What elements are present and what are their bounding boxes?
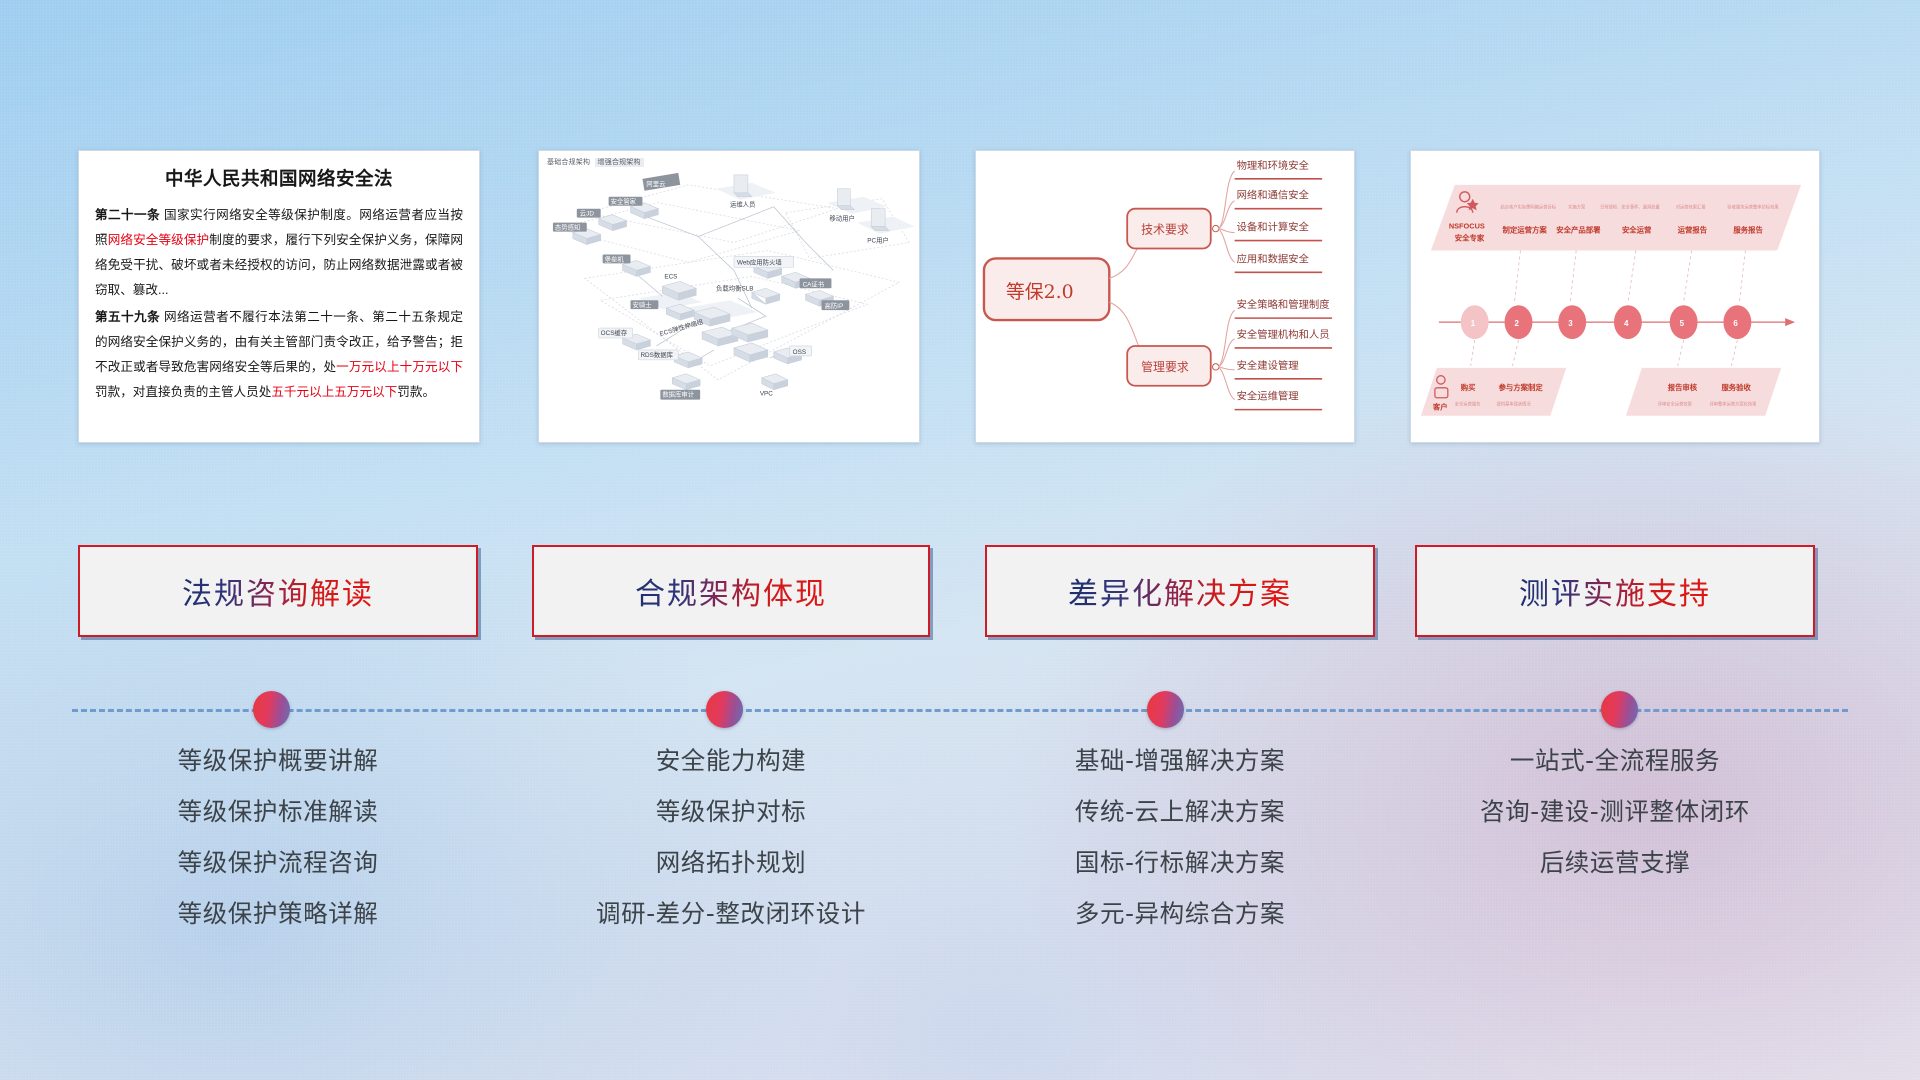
timeline-step-5: 5 <box>1680 319 1685 328</box>
nsfocus-canvas: NSFOCUS 安全专家 结合客户实际需明确运营目标 制定运营方案 实施方案 安… <box>1411 151 1819 443</box>
node-label-mobile-user: 移动用户 <box>829 214 854 223</box>
bottom-step-3-title: 报告审核 <box>1668 383 1698 392</box>
architecture-node-labels: 安全管家 云JD 态势感知 堡垒机 ECS 安骑士 OCS缓存 <box>553 197 889 400</box>
timeline-dot-3[interactable] <box>1147 691 1184 728</box>
node-label-ecs: ECS <box>664 273 677 280</box>
headline-box-3[interactable]: 差异化解决方案 <box>985 545 1375 637</box>
nsfocus-timeline: NSFOCUS 安全专家 结合客户实际需明确运营目标 制定运营方案 实施方案 安… <box>1411 151 1819 442</box>
top-step-3-sub: 日常巡检、安全事件、漏洞处置 <box>1600 204 1660 211</box>
top-step-1-sub: 结合客户实际需明确运营目标 <box>1501 204 1557 211</box>
mindmap-leaf-1-3: 设备和计算安全 <box>1237 221 1310 234</box>
law-article-21-highlight: 网络安全等级保护 <box>108 233 210 247</box>
node-label-anqishi: 安骑士 <box>633 300 653 309</box>
law-article-59-label: 第五十九条 <box>95 310 160 324</box>
headline-box-4[interactable]: 测评实施支持 <box>1415 545 1815 637</box>
node-label-vpc: VPC <box>760 391 773 398</box>
timeline-step-1: 1 <box>1471 319 1476 328</box>
bullet-columns: 等级保护概要讲解 等级保护标准解读 等级保护流程咨询 等级保护策略详解 安全能力… <box>0 735 1920 975</box>
list-item: 多元-异构综合方案 <box>985 888 1375 939</box>
timeline-dot-4[interactable] <box>1601 691 1638 728</box>
node-label-security-butler: 安全管家 <box>611 197 637 206</box>
top-step-5-title: 服务报告 <box>1733 226 1763 235</box>
bottom-step-2-sub: 提供基本现状情况 <box>1497 401 1532 408</box>
nsfocus-brand: NSFOCUS <box>1449 222 1485 231</box>
card-cybersecurity-law[interactable]: 中华人民共和国网络安全法 第二十一条 国家实行网络安全等级保护制度。网络运营者应… <box>78 150 480 443</box>
law-penalty-highlight-2: 五千元以上五万元以下 <box>271 385 397 399</box>
top-step-3-title: 安全运营 <box>1622 226 1652 235</box>
list-item: 等级保护对标 <box>532 786 930 837</box>
headline-label-1: 法规咨询解读 <box>182 569 374 613</box>
headline-label-4: 测评实施支持 <box>1519 569 1711 613</box>
mindmap-canvas: 等保2.0 技术要求 物理和环境安全 网络和通信安全 <box>976 151 1354 442</box>
bottom-step-1-title: 购买 <box>1461 383 1476 392</box>
list-item: 一站式-全流程服务 <box>1415 735 1815 786</box>
list-item: 传统-云上解决方案 <box>985 786 1375 837</box>
mindmap-leaf-2-4: 安全运维管理 <box>1237 390 1299 403</box>
node-label-anti-ddos-ip: 高防IP <box>824 301 843 310</box>
mindmap: 等保2.0 技术要求 物理和环境安全 网络和通信安全 <box>976 151 1354 442</box>
card-nsfocus-timeline[interactable]: NSFOCUS 安全专家 结合客户实际需明确运营目标 制定运营方案 实施方案 安… <box>1410 150 1820 443</box>
bottom-step-4-sub: 评审整体运营方案化效果 <box>1710 401 1758 408</box>
architecture-diagram: 基础合规架构 增强合规架构 <box>539 151 919 442</box>
timeline-step-4: 4 <box>1624 319 1629 328</box>
timeline-dot-2[interactable] <box>706 691 743 728</box>
bullet-column-3: 基础-增强解决方案 传统-云上解决方案 国标-行标解决方案 多元-异构综合方案 <box>985 735 1375 939</box>
top-step-4-sub: 对运营效果汇报 <box>1676 204 1707 211</box>
list-item: 调研-差分-整改闭环设计 <box>532 888 930 939</box>
timeline-step-2: 2 <box>1514 319 1519 328</box>
bottom-step-2-title: 参与方案制定 <box>1499 383 1544 392</box>
node-label-cloud-jd: 云JD <box>580 210 595 218</box>
thumbnail-card-row: 中华人民共和国网络安全法 第二十一条 国家实行网络安全等级保护制度。网络运营者应… <box>0 150 1920 450</box>
node-label-ca-cert: CA证书 <box>803 279 825 288</box>
list-item: 网络拓扑规划 <box>532 837 930 888</box>
node-label-waf: Web应用防火墙 <box>737 257 782 266</box>
node-label-oss: OSS <box>793 349 806 356</box>
headline-label-2: 合规架构体现 <box>635 569 827 613</box>
law-article-59-mid: 罚款，对直接负责的主管人员处 <box>95 385 271 399</box>
node-label-ops-staff: 运维人员 <box>730 200 755 209</box>
node-label-ocs-cache: OCS缓存 <box>601 328 628 337</box>
customer-label: 客户 <box>1432 403 1448 412</box>
node-label-situational-awareness: 态势感知 <box>555 223 580 232</box>
bottom-step-3-sub: 评审安全运营效果 <box>1658 401 1693 408</box>
list-item: 等级保护标准解读 <box>78 786 478 837</box>
timeline-dot-1[interactable] <box>253 691 290 728</box>
bullet-column-2: 安全能力构建 等级保护对标 网络拓扑规划 调研-差分-整改闭环设计 <box>532 735 930 939</box>
mindmap-leaf-1-2: 网络和通信安全 <box>1237 189 1310 202</box>
bottom-step-1-sub: 安全运营服务 <box>1455 401 1481 408</box>
top-step-4-title: 运营报告 <box>1678 226 1708 235</box>
mindmap-leaf-2-1: 安全策略和管理制度 <box>1237 298 1330 311</box>
card-cloud-architecture[interactable]: 基础合规架构 增强合规架构 <box>538 150 920 443</box>
node-label-rds-database: RDS数据库 <box>640 350 673 359</box>
card-dengbao-mindmap[interactable]: 等保2.0 技术要求 物理和环境安全 网络和通信安全 <box>975 150 1355 443</box>
architecture-banner-label: 阿里云 <box>646 179 665 188</box>
mindmap-branch-2-label: 管理要求 <box>1141 360 1189 374</box>
headline-box-1[interactable]: 法规咨询解读 <box>78 545 478 637</box>
top-step-1-title: 制定运营方案 <box>1503 226 1548 235</box>
architecture-canvas: 阿里云 <box>539 151 919 442</box>
list-item: 等级保护流程咨询 <box>78 837 478 888</box>
timeline-arrow-icon <box>1785 318 1795 326</box>
list-item: 后续运营支撑 <box>1415 837 1815 888</box>
top-step-5-sub: 验收服务运营整体达标效果 <box>1727 204 1779 211</box>
list-item: 国标-行标解决方案 <box>985 837 1375 888</box>
law-article-21: 第二十一条 国家实行网络安全等级保护制度。网络运营者应当按照网络安全等级保护制度… <box>95 203 463 303</box>
mindmap-leaf-1-4: 应用和数据安全 <box>1237 252 1310 265</box>
top-step-2-sub: 实施方案 <box>1568 204 1586 211</box>
top-step-2-title: 安全产品部署 <box>1556 226 1601 235</box>
law-article-21-label: 第二十一条 <box>95 208 160 222</box>
bullet-column-4: 一站式-全流程服务 咨询-建设-测评整体闭环 后续运营支撑 <box>1415 735 1815 888</box>
bottom-step-4-title: 服务验收 <box>1721 383 1751 392</box>
law-document: 中华人民共和国网络安全法 第二十一条 国家实行网络安全等级保护制度。网络运营者应… <box>79 151 479 413</box>
law-article-59: 第五十九条 网络运营者不履行本法第二十一条、第二十五条规定的网络安全保护义务的，… <box>95 305 463 405</box>
timeline-connector <box>0 680 1920 740</box>
headline-box-2[interactable]: 合规架构体现 <box>532 545 930 637</box>
law-penalty-highlight-1: 一万元以上十万元以下 <box>336 360 463 374</box>
node-label-bastion-host: 堡垒机 <box>605 254 625 263</box>
node-label-db-audit: 数据库审计 <box>662 390 694 399</box>
list-item: 等级保护策略详解 <box>78 888 478 939</box>
headline-row: 法规咨询解读 合规架构体现 差异化解决方案 测评实施支持 <box>0 545 1920 645</box>
timeline-step-3: 3 <box>1568 319 1573 328</box>
slide-canvas: 中华人民共和国网络安全法 第二十一条 国家实行网络安全等级保护制度。网络运营者应… <box>0 0 1920 1080</box>
mindmap-root-label: 等保2.0 <box>1006 281 1074 303</box>
node-label-pc-user: PC用户 <box>867 236 889 245</box>
list-item: 安全能力构建 <box>532 735 930 786</box>
nsfocus-brand-sub: 安全专家 <box>1455 234 1485 243</box>
list-item: 基础-增强解决方案 <box>985 735 1375 786</box>
list-item: 咨询-建设-测评整体闭环 <box>1415 786 1815 837</box>
node-label-slb: 负载均衡SLB <box>716 283 753 292</box>
bullet-column-1: 等级保护概要讲解 等级保护标准解读 等级保护流程咨询 等级保护策略详解 <box>78 735 478 939</box>
mindmap-leaf-2-3: 安全建设管理 <box>1237 359 1299 372</box>
timeline-dashed-line <box>72 709 1848 712</box>
list-item: 等级保护概要讲解 <box>78 735 478 786</box>
timeline-step-6: 6 <box>1733 319 1738 328</box>
mindmap-branch-1-label: 技术要求 <box>1141 223 1189 237</box>
law-article-59-end: 罚款。 <box>397 385 435 399</box>
mindmap-leaf-1-1: 物理和环境安全 <box>1237 159 1310 172</box>
law-title: 中华人民共和国网络安全法 <box>95 165 463 191</box>
mindmap-leaf-2-2: 安全管理机构和人员 <box>1237 328 1330 341</box>
headline-label-3: 差异化解决方案 <box>1068 569 1292 613</box>
